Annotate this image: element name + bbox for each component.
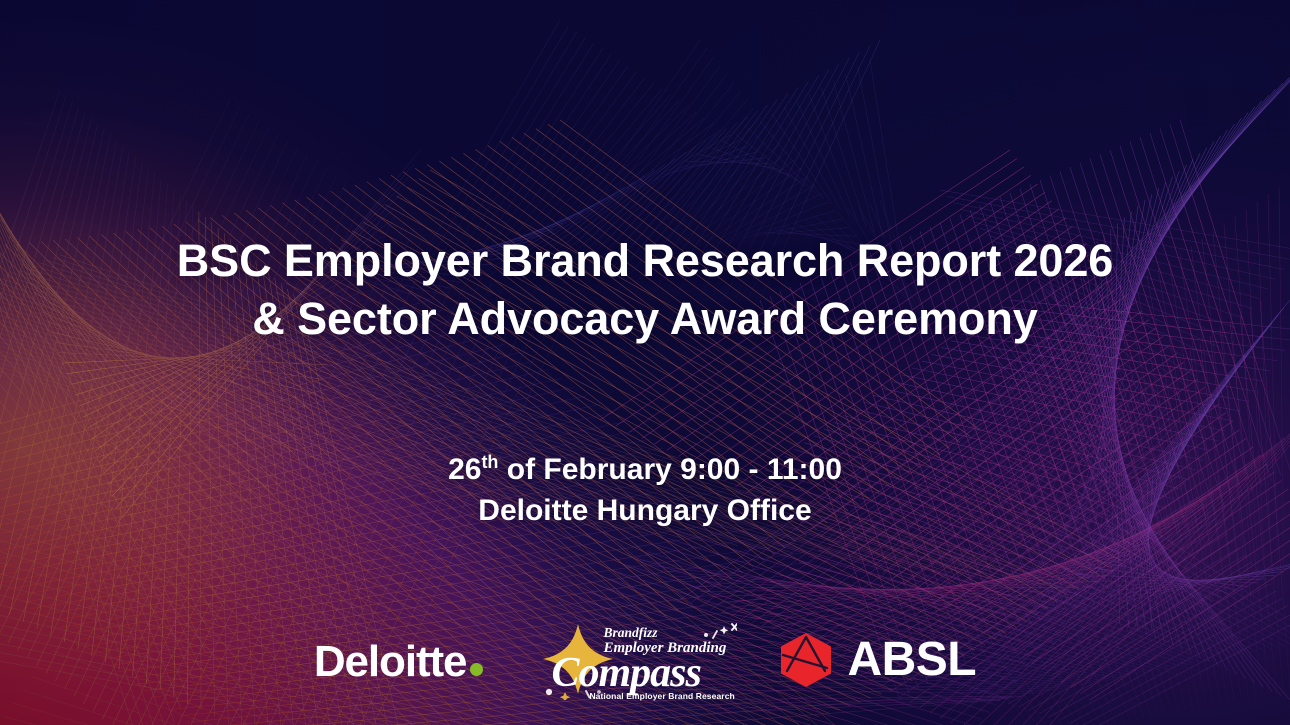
- event-title-line-1: BSC Employer Brand Research Report 2026: [60, 232, 1230, 290]
- absl-logo: ABSL: [777, 631, 976, 689]
- event-title: BSC Employer Brand Research Report 2026 …: [0, 232, 1290, 347]
- deloitte-dot-icon: [470, 663, 483, 676]
- absl-wordmark: ABSL: [847, 636, 976, 684]
- deloitte-logo: Deloitte: [314, 640, 484, 684]
- compass-subtitle: National Employer Brand Research: [589, 691, 734, 701]
- event-banner-slide: BSC Employer Brand Research Report 2026 …: [0, 0, 1290, 725]
- compass-wordmark: Compass: [551, 652, 700, 694]
- compass-sparkles-icon: [703, 622, 737, 644]
- event-datetime: 26th of February 9:00 - 11:00: [0, 449, 1290, 490]
- event-date-rest: of February 9:00 - 11:00: [498, 453, 841, 486]
- compass-logo: Brandfizz Employer Branding Compass Nati…: [541, 616, 719, 704]
- absl-hexagon-icon: [777, 631, 835, 689]
- event-title-line-2: & Sector Advocacy Award Ceremony: [60, 290, 1230, 348]
- deloitte-wordmark: Deloitte: [314, 640, 467, 684]
- event-venue: Deloitte Hungary Office: [0, 490, 1290, 531]
- event-date-ordinal-suffix: th: [481, 452, 498, 472]
- event-date-day: 26: [448, 453, 481, 486]
- slide-content: BSC Employer Brand Research Report 2026 …: [0, 0, 1290, 725]
- event-details: 26th of February 9:00 - 11:00 Deloitte H…: [0, 449, 1290, 531]
- partner-logo-row: Deloitte Brandfizz Employer Branding: [0, 612, 1290, 708]
